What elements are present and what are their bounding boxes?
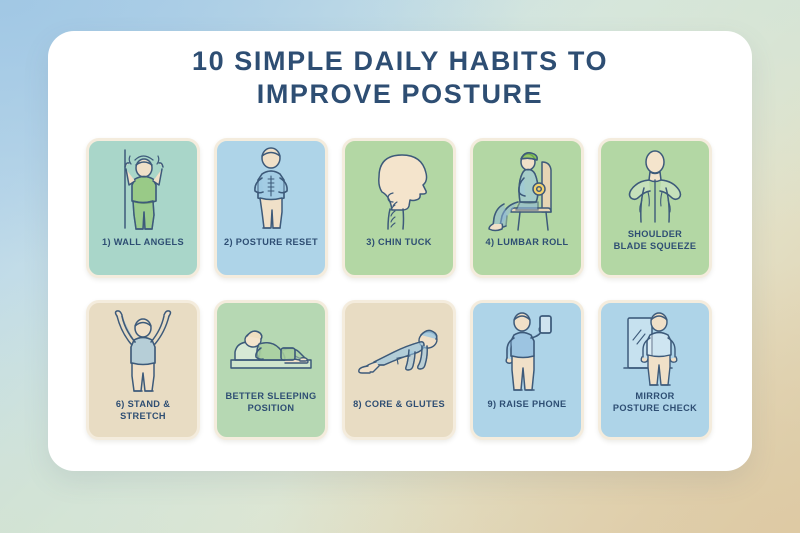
shoulder-blade-squeeze-icon bbox=[601, 141, 709, 229]
habit-card-label: 4) Lumbar Roll bbox=[482, 237, 573, 249]
habit-card-label: 9) Raise Phone bbox=[484, 399, 571, 411]
page-title: 10 Simple Daily Habits to Improve Postur… bbox=[48, 45, 752, 111]
chin-tuck-icon bbox=[345, 141, 453, 237]
habit-card-label-line-2: Blade Squeeze bbox=[614, 241, 697, 251]
habit-card-mirror-posture-check[interactable]: Mirror Posture Check bbox=[598, 300, 712, 440]
habit-card-grid: 1) Wall Angels bbox=[86, 138, 714, 440]
lumbar-roll-icon bbox=[473, 141, 581, 237]
habit-card-label-line-1: Better Sleeping bbox=[225, 391, 316, 401]
habit-card-label: 1) Wall Angels bbox=[98, 237, 188, 249]
habit-card-core-glutes[interactable]: 8) Core & Glutes bbox=[342, 300, 456, 440]
habit-card-better-sleeping-position[interactable]: Better Sleeping Position bbox=[214, 300, 328, 440]
mirror-posture-check-icon bbox=[601, 303, 709, 391]
content-panel: 10 Simple Daily Habits to Improve Postur… bbox=[48, 31, 752, 471]
habit-card-label-line-1: Shoulder bbox=[628, 229, 682, 239]
habit-card-label-line-2: Posture Check bbox=[613, 403, 697, 413]
stand-stretch-icon bbox=[89, 303, 197, 399]
wall-angels-icon bbox=[89, 141, 197, 237]
habit-card-shoulder-blade-squeeze[interactable]: Shoulder Blade Squeeze bbox=[598, 138, 712, 278]
habit-card-label: Shoulder Blade Squeeze bbox=[610, 229, 701, 252]
habit-card-label: 8) Core & Glutes bbox=[349, 399, 449, 411]
core-glutes-icon bbox=[345, 303, 453, 399]
habit-card-label: 2) Posture Reset bbox=[220, 237, 322, 249]
habit-card-label: Better Sleeping Position bbox=[221, 391, 320, 414]
posture-reset-icon bbox=[217, 141, 325, 237]
habit-card-stand-stretch[interactable]: 6) Stand & Stretch bbox=[86, 300, 200, 440]
better-sleeping-position-icon bbox=[217, 303, 325, 391]
habit-card-label-line-2: Position bbox=[248, 403, 295, 413]
infographic-root: 10 Simple Daily Habits to Improve Postur… bbox=[0, 0, 800, 533]
habit-card-label: Mirror Posture Check bbox=[609, 391, 701, 414]
habit-card-posture-reset[interactable]: 2) Posture Reset bbox=[214, 138, 328, 278]
raise-phone-icon bbox=[473, 303, 581, 399]
page-title-line-1: 10 Simple Daily Habits to bbox=[192, 46, 608, 76]
habit-card-raise-phone[interactable]: 9) Raise Phone bbox=[470, 300, 584, 440]
habit-card-label-line-1: Mirror bbox=[635, 391, 674, 401]
habit-card-label: 6) Stand & Stretch bbox=[89, 399, 197, 422]
habit-card-lumbar-roll[interactable]: 4) Lumbar Roll bbox=[470, 138, 584, 278]
habit-card-wall-angels[interactable]: 1) Wall Angels bbox=[86, 138, 200, 278]
page-title-line-2: Improve Posture bbox=[48, 78, 752, 111]
habit-card-chin-tuck[interactable]: 3) Chin Tuck bbox=[342, 138, 456, 278]
habit-card-label: 3) Chin Tuck bbox=[362, 237, 435, 249]
